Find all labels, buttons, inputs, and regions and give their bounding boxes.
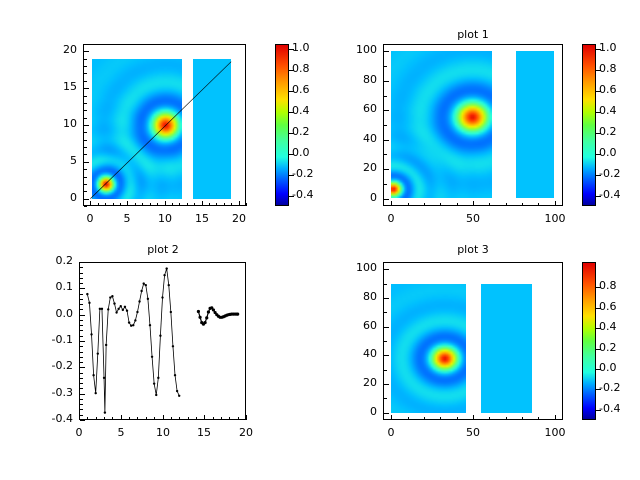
figure-canvas: 0510152005101520-0.4-0.20.00.20.40.60.81… [0,0,640,480]
x-tick-minor [555,417,556,420]
colorbar-label-3-4: 0.4 [599,320,617,333]
x-tick-label-3-1: 50 [448,426,498,439]
x-tick-minor [457,417,458,420]
y-tick-minor [384,341,387,342]
colorbar-label-3-1: -0.2 [599,381,620,394]
x-tick-minor [440,417,441,420]
colorbar-label-3-6: 0.8 [599,279,617,292]
x-tick-minor [391,417,392,420]
colorbar-label-3-2: 0.0 [599,361,617,374]
y-tick-minor [384,398,387,399]
x-tick-minor [424,417,425,420]
y-tick-minor [384,298,387,299]
y-tick-label-3-2: 40 [331,347,377,360]
y-tick-minor [384,413,387,414]
colorbar-label-3-3: 0.2 [599,341,617,354]
y-tick-minor [384,327,387,328]
x-tick-minor [538,417,539,420]
y-tick-minor [384,312,387,313]
x-tick-minor [473,417,474,420]
y-tick-minor [384,370,387,371]
y-tick-minor [384,384,387,385]
y-tick-label-3-0: 0 [331,405,377,418]
x-tick-minor [522,417,523,420]
x-tick-minor [489,417,490,420]
heatmap-canvas [391,284,466,413]
x-tick-minor [506,417,507,420]
plot-panel-3: plot 3020406080100050100-0.4-0.20.00.20.… [0,0,640,480]
colorbar-label-3-5: 0.6 [599,300,617,313]
plot-title-3: plot 3 [413,243,533,256]
heatmap-image-3 [384,263,562,419]
x-tick-label-3-2: 100 [530,426,580,439]
y-tick-minor [384,269,387,270]
y-tick-label-3-1: 20 [331,376,377,389]
y-tick-label-3-5: 100 [331,261,377,274]
colorbar-3 [582,262,596,420]
y-tick-minor [384,355,387,356]
colorbar-label-3-0: -0.4 [599,402,620,415]
y-tick-label-3-4: 80 [331,290,377,303]
x-tick-minor [408,417,409,420]
heatmap-block-3-1 [481,284,532,413]
heatmap-canvas [481,284,532,413]
heatmap-block-3-0 [391,284,466,413]
y-tick-label-3-3: 60 [331,319,377,332]
y-tick-minor [384,284,387,285]
x-tick-label-3-0: 0 [366,426,416,439]
